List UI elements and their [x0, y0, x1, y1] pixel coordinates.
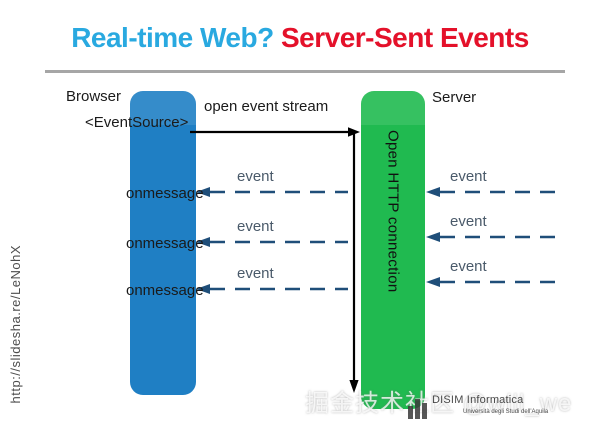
open-event-stream-arrow — [190, 126, 360, 138]
university-logo-mark-icon — [408, 397, 428, 419]
slide-title: Real-time Web? Server-Sent Events — [0, 22, 600, 54]
server-label: Server — [432, 89, 476, 106]
browser-label: Browser — [66, 88, 121, 105]
inner-event-arrow-2 — [196, 236, 348, 248]
title-red-part: Server-Sent Events — [281, 22, 529, 53]
slideshare-url: http://slidesha.re/LeNohX — [8, 245, 23, 403]
server-bar-sheen — [361, 91, 425, 125]
inner-event-label-1: event — [237, 168, 274, 185]
university-logo: DISIM Informatica Università degli Studi… — [408, 392, 593, 422]
university-logo-name: DISIM Informatica — [432, 394, 523, 406]
open-event-stream-label: open event stream — [204, 98, 328, 115]
open-http-connection-line — [349, 131, 359, 393]
onmessage-label-3: onmessage — [126, 282, 204, 299]
onmessage-label-1: onmessage — [126, 185, 204, 202]
outer-event-label-2: event — [450, 213, 487, 230]
onmessage-label-2: onmessage — [126, 235, 204, 252]
title-divider — [45, 70, 565, 73]
inner-event-label-3: event — [237, 265, 274, 282]
title-blue-part: Real-time Web? — [71, 22, 274, 53]
open-http-connection-label: Open HTTP connection — [361, 130, 425, 360]
inner-event-arrow-1 — [196, 186, 348, 198]
eventsource-api-label: <EventSource> — [85, 114, 188, 131]
inner-event-arrow-3 — [196, 283, 348, 295]
inner-event-label-2: event — [237, 218, 274, 235]
outer-event-arrow-3 — [426, 276, 560, 288]
outer-event-arrow-1 — [426, 186, 560, 198]
slide-canvas: Real-time Web? Server-Sent Events Browse… — [0, 0, 600, 424]
outer-event-label-1: event — [450, 168, 487, 185]
university-logo-subtitle: Università degli Studi dell'Aquila — [463, 409, 548, 415]
outer-event-arrow-2 — [426, 231, 560, 243]
outer-event-label-3: event — [450, 258, 487, 275]
open-http-connection-text: Open HTTP connection — [385, 130, 402, 292]
